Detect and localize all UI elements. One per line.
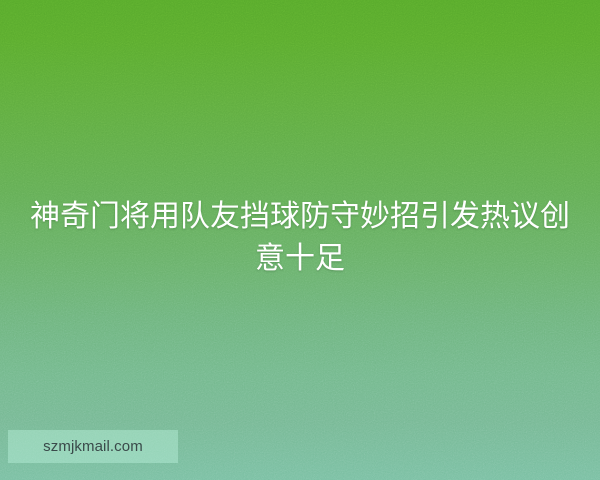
- image-canvas: 神奇门将用队友挡球防守妙招引发热议创意十足 szmjkmail.com: [0, 0, 600, 480]
- watermark-label: szmjkmail.com: [43, 439, 143, 454]
- title-block: 神奇门将用队友挡球防守妙招引发热议创意十足: [0, 196, 600, 280]
- watermark-badge: szmjkmail.com: [8, 430, 178, 463]
- headline-text: 神奇门将用队友挡球防守妙招引发热议创意十足: [26, 196, 574, 280]
